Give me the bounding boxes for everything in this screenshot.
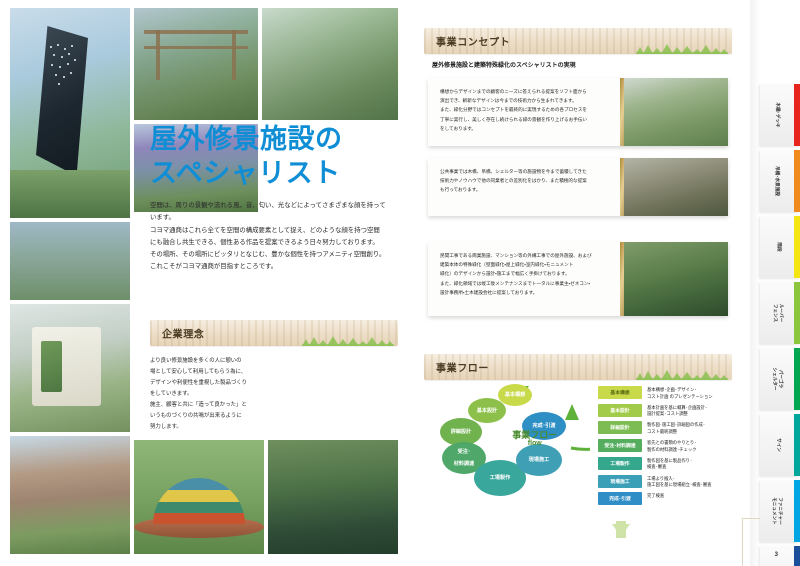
philosophy-line: 場として安心して利用してもらう為に、: [150, 367, 268, 378]
philosophy-header-label: 企業理念: [162, 326, 204, 341]
photo-pergola-bridge: [134, 8, 258, 120]
page-title-line-1: 屋外修景施設の: [150, 122, 400, 156]
restroom-structure: [32, 327, 102, 406]
concept-card-line: 演出でき、斬新なデザインは今までの技術力から生まれてきます。: [440, 96, 642, 105]
flow-step-tag: 現場施工: [598, 475, 642, 488]
philosophy-line: 努力します。: [150, 422, 268, 433]
flow-center-label: 事業フロー flow: [512, 431, 557, 448]
concept-card: 公共事業では木橋、吊橋、シェルター等の施設物を今まで蓄積してきた技術力やノウハウ…: [428, 158, 728, 216]
flow-step-description-line: 施工図を基に現場組立･検査･審査: [647, 482, 711, 489]
flow-step-row: 現場施工工場より搬入･施工図を基に現場組立･検査･審査: [598, 475, 738, 489]
philosophy-line: いうものづくりの共鳴が出来るように: [150, 411, 268, 422]
flow-step-tag: 基本構想: [598, 386, 642, 399]
concept-header-label: 事業コンセプト: [436, 34, 510, 49]
photo-play-dome: [134, 440, 264, 554]
concept-card-photo: [624, 242, 728, 316]
flow-bubble: 基本設計: [468, 398, 506, 423]
photo-restroom-building: [10, 304, 130, 432]
flow-bubble: 基本構想: [498, 384, 532, 406]
flow-step-description-line: コスト計画 のプレゼンテーション: [647, 394, 713, 401]
concept-card-photo: [624, 158, 728, 216]
concept-card-line: 公共事業では木橋、吊橋、シェルター等の施設物を今まで蓄積してきた: [440, 167, 642, 176]
category-tab-color-bar: [794, 480, 800, 542]
hero-lead-line: その場所、その場所にピッタリとなじむ、豊かな個性を持つアメニティ空間創り。: [150, 249, 392, 261]
category-tab[interactable]: ルーバーフェンス: [760, 282, 800, 344]
category-tab-rail: 木橋･デッキ吊橋･水景施設階段ルーバーフェンスパーゴラシェルターサインファニチャ…: [760, 84, 800, 566]
concept-card-line: をしております。: [440, 124, 642, 133]
philosophy-line: より良い修景施設を多くの人に憩いの: [150, 356, 268, 367]
concept-card-text: 公共事業では木橋、吊橋、シェルター等の施設物を今まで蓄積してきた技術力やノウハウ…: [440, 167, 642, 195]
flow-step-row: 完成･引渡完了検査: [598, 492, 738, 505]
flow-bubble-label: 基本構想: [505, 392, 525, 398]
page-number: 3: [775, 552, 778, 558]
section-header-flow: 事業フロー: [424, 354, 732, 380]
concept-card-line: 緑化）のデザインから設計・施工まで幅広く手掛けております。: [440, 269, 642, 278]
hero-lead-paragraph: 空間は、周りの景観や流れる風、音、匂い、光などによってさまざまな顔を持っています…: [150, 200, 392, 274]
category-tab-label: ルーバーフェンス: [772, 304, 783, 322]
hero-lead-line: います。: [150, 212, 392, 224]
hero-lead-line: 空間は、周りの景観や流れる風、音、匂い、光などによってさまざまな顔を持って: [150, 200, 392, 212]
flow-center-title: 事業フロー: [512, 430, 557, 440]
flow-step-tag: 完成･引渡: [598, 492, 642, 505]
flow-bubble-label: 詳細設計: [451, 429, 471, 435]
photo-monolith-sign: [10, 8, 130, 218]
flow-step-description-line: コスト最終調整: [647, 429, 705, 436]
concept-card-line: 設計事務所・土木建設会社に提案しております。: [440, 288, 642, 297]
flow-header-label: 事業フロー: [436, 360, 489, 375]
concept-card: 構想からデザインまでの顧客のニーズに答えられる提案をソフト面から演出でき、斬新な…: [428, 78, 728, 146]
flow-step-row: 基本設計基本計画を基に概算･企画設計･設計提案･コスト調整: [598, 404, 738, 418]
category-tab[interactable]: サイン: [760, 414, 800, 476]
flow-bubble: 現場施工: [516, 444, 562, 476]
trees-decoration-icon: [302, 328, 394, 346]
philosophy-line: をしていきます。: [150, 389, 268, 400]
flow-step-description: 製作図を基に製品作り･検査･審査: [647, 457, 692, 471]
category-tab-label: 吊橋･水景施設: [774, 166, 780, 196]
photo-walkway: [10, 222, 130, 300]
concept-subtitle: 屋外修景施設と建築特殊緑化のスペシャリストの実現: [432, 60, 576, 69]
category-tab-color-bar: [794, 348, 800, 410]
category-tab[interactable]: 木橋･デッキ: [760, 84, 800, 146]
philosophy-line: 施主、顧客と共に「造って良かった」と: [150, 400, 268, 411]
flow-bubble-label: 受注･: [458, 449, 471, 455]
page-title: 屋外修景施設の スペシャリスト: [150, 122, 400, 190]
page-spine-shadow: [750, 0, 760, 566]
photo-family-picnic: [275, 360, 397, 430]
flow-step-tag: 基本設計: [598, 404, 642, 417]
hero-lead-line: にも融合し共生できる、個性ある作品を提案できるよう日々努力しております。: [150, 237, 392, 249]
flow-bubble-label: 完成･引渡: [533, 423, 556, 429]
category-tab-color-bar: [794, 414, 800, 476]
photo-wooden-arbor: [262, 8, 398, 120]
flow-step-description: 完了検査: [647, 492, 664, 500]
flow-step-row: 詳細設計製作図･施工図･詳細図の作成･コスト最終調整: [598, 421, 738, 435]
flow-step-description: 工場より搬入･施工図を基に現場組立･検査･審査: [647, 475, 711, 489]
concept-card-line: 丁寧に実行し、美しく存在し続けられる緑の景観を作り上げるお手伝い: [440, 115, 642, 124]
category-tab-color-bar: [794, 84, 800, 146]
monolith-dots: [48, 42, 78, 88]
concept-card-line: 技術力やノウハウで他の同業者との差別化をはかり、また積極的な提案: [440, 176, 642, 185]
flow-step-description: 製作図･施工図･詳細図の作成･コスト最終調整: [647, 421, 705, 435]
flow-bubble-label: 工場製作: [490, 475, 510, 481]
category-tab-color-bar: [794, 150, 800, 212]
category-tab-label: 階段: [776, 242, 782, 251]
flow-step-tag: 詳細設計: [598, 421, 642, 434]
flow-step-row: 受注･材料調達客先との書類のやりとり･製作の材料調達･チェック: [598, 439, 738, 453]
flow-down-arrow-icon: [612, 524, 630, 537]
category-tab-label: サイン: [776, 438, 782, 452]
page-title-line-2: スペシャリスト: [150, 156, 400, 190]
category-tab[interactable]: ファニチャーモニュメント: [760, 480, 800, 542]
flow-step-description-line: 製作の材料調達･チェック: [647, 447, 696, 454]
section-header-philosophy: 企業理念: [150, 320, 398, 346]
monolith-ground: [10, 170, 130, 218]
section-header-concept: 事業コンセプト: [424, 28, 732, 54]
category-tab-label: パーゴラシェルター: [772, 368, 783, 391]
flow-step-row: 工場製作製作図を基に製品作り･検査･審査: [598, 457, 738, 471]
concept-card-text: 民間工事である商業施設、マンション等の外構工事での屋外施設、および建築本体の特殊…: [440, 251, 642, 297]
flow-step-row: 基本構想基本構想･企画･デザイン･コスト計画 のプレゼンテーション: [598, 386, 738, 400]
page-corner-fold: [742, 518, 760, 566]
concept-card-photo: [624, 78, 728, 146]
brochure-page: 屋外修景施設の スペシャリスト 空間は、周りの景観や流れる風、音、匂い、光などに…: [0, 0, 800, 566]
concept-card-line: また、緑化分野ではコンセプトを最終的に実現するための各プロセスを: [440, 105, 642, 114]
category-tab[interactable]: パーゴラシェルター: [760, 348, 800, 410]
flow-step-description: 客先との書類のやりとり･製作の材料調達･チェック: [647, 439, 696, 453]
flow-bubble-label: 現場施工: [529, 457, 549, 463]
flow-center-subtitle: flow: [512, 440, 557, 447]
category-tab-color-bar: [794, 282, 800, 344]
category-tab-color-bar: [794, 546, 800, 566]
trees-decoration-icon: [636, 36, 728, 54]
flow-bubble-label-2: 材料調達: [454, 461, 474, 467]
dome-structure: [153, 478, 245, 524]
category-tab-label: 木橋･デッキ: [775, 102, 781, 127]
concept-card-text: 構想からデザインまでの顧客のニーズに答えられる提案をソフト面から演出でき、斬新な…: [440, 87, 642, 133]
flow-step-tag: 受注･材料調達: [598, 439, 642, 452]
flow-step-description: 基本計画を基に概算･企画設計･設計提案･コスト調整: [647, 404, 707, 418]
philosophy-line: デザインや利便性を重視した製品づくり: [150, 378, 268, 389]
concept-card-line: また、緑化領域では竣工後メンテナンスまでトータルに事業主・ゼネコン・: [440, 279, 642, 288]
flow-step-description-line: 完了検査: [647, 493, 664, 500]
category-tab-color-bar: [794, 216, 800, 278]
flow-step-list: 基本構想基本構想･企画･デザイン･コスト計画 のプレゼンテーション基本設計基本計…: [598, 386, 738, 509]
flow-step-description-line: 客先との書類のやりとり･: [647, 440, 696, 447]
category-tab[interactable]: 屋外遊具: [760, 546, 800, 566]
flow-step-tag: 工場製作: [598, 457, 642, 470]
photo-stream: [268, 440, 398, 554]
concept-card-line: も行っております。: [440, 185, 642, 194]
flow-step-description-line: 基本構想･企画･デザイン･: [647, 387, 713, 394]
flow-step-description-line: 検査･審査: [647, 464, 692, 471]
flow-circle-diagram: 基本構想基本設計詳細設計受注･材料調達工場製作現場施工完成･引渡 事業フロー f…: [428, 386, 590, 498]
flow-step-description: 基本構想･企画･デザイン･コスト計画 のプレゼンテーション: [647, 386, 713, 400]
concept-card-line: 建築本体の特殊緑化（壁面緑化・屋上緑化・室内緑化・モニュメント: [440, 260, 642, 269]
photo-apartment-garden: [10, 436, 130, 554]
philosophy-text: より良い修景施設を多くの人に憩いの場として安心して利用してもらう為に、デザインや…: [150, 356, 268, 434]
category-tab[interactable]: 吊橋･水景施設: [760, 150, 800, 212]
hero-lead-line: コヨマ通商はこれら全てを空間の構成要素として捉え、どのような顔を持つ空間: [150, 225, 392, 237]
concept-card-line: 構想からデザインまでの顧客のニーズに答えられる提案をソフト面から: [440, 87, 642, 96]
hero-lead-line: これこそがコヨマ通商が目指すところです。: [150, 261, 392, 273]
category-tab[interactable]: 階段: [760, 216, 800, 278]
flow-step-description-line: 設計提案･コスト調整: [647, 411, 707, 418]
concept-card: 民間工事である商業施設、マンション等の外構工事での屋外施設、および建築本体の特殊…: [428, 242, 728, 316]
flow-bubble-label: 基本設計: [477, 408, 497, 414]
trees-decoration-icon: [636, 362, 728, 380]
concept-card-line: 民間工事である商業施設、マンション等の外構工事での屋外施設、および: [440, 251, 642, 260]
category-tab-label: ファニチャーモニュメント: [772, 497, 783, 525]
